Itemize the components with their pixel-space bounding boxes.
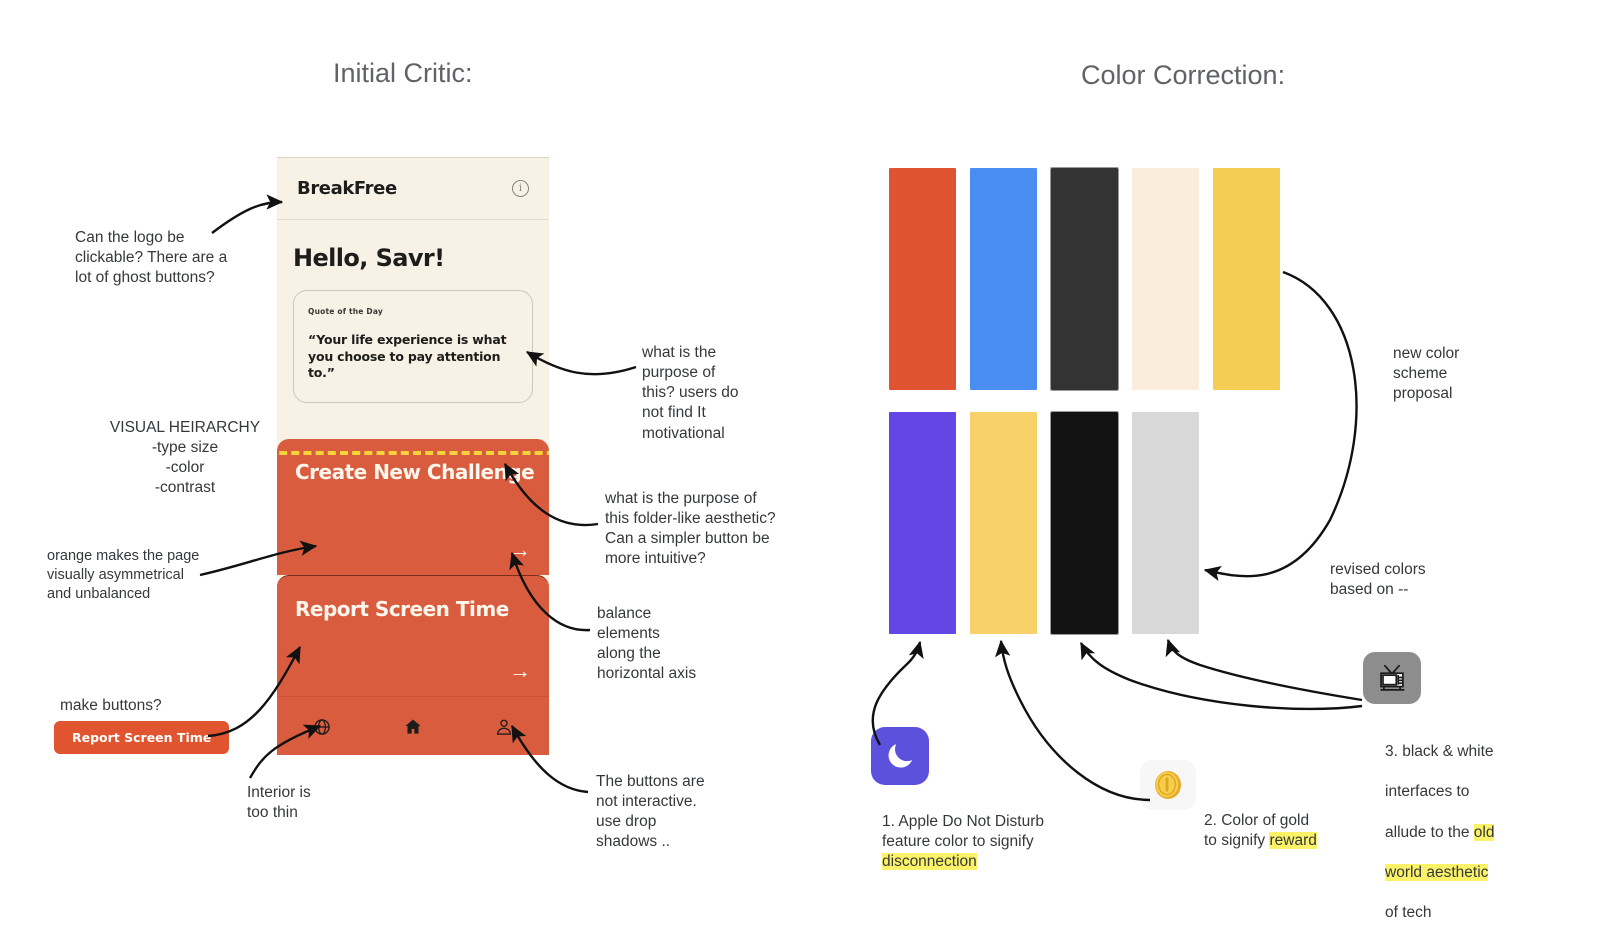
note-bw-line4: world aesthetic bbox=[1385, 863, 1565, 883]
note-gold-color: 2. Color of gold to signify reward bbox=[1204, 791, 1354, 851]
bottom-tab-bar bbox=[277, 696, 549, 755]
report-screen-time-button[interactable]: Report Screen Time bbox=[54, 721, 229, 754]
color-swatch-light-gray bbox=[1132, 412, 1199, 634]
canvas: Initial Critic: Color Correction: BreakF… bbox=[0, 0, 1614, 902]
create-new-challenge-card[interactable]: Create New Challenge → bbox=[277, 439, 549, 575]
color-swatch-gold bbox=[970, 412, 1037, 634]
television-icon bbox=[1363, 652, 1421, 704]
color-swatch-black bbox=[1051, 412, 1118, 634]
note-folder-aesthetic: what is the purpose of this folder-like … bbox=[605, 489, 805, 570]
right-section-title: Color Correction: bbox=[1081, 60, 1285, 91]
dashed-guide-line bbox=[277, 451, 549, 455]
color-swatch-cream bbox=[1132, 168, 1199, 390]
color-swatch-blue bbox=[970, 168, 1037, 390]
arrow-right-icon[interactable]: → bbox=[509, 539, 531, 561]
info-icon[interactable]: i bbox=[512, 180, 529, 197]
note-dnd-text: 1. Apple Do Not Disturb feature color to… bbox=[882, 813, 1044, 850]
color-swatch-purple bbox=[889, 412, 956, 634]
app-topbar: BreakFree i bbox=[277, 158, 549, 220]
note-visual-hierarchy: VISUAL HEIRARCHY -type size -color -cont… bbox=[105, 418, 265, 499]
note-balance-elements: balance elements along the horizontal ax… bbox=[597, 604, 717, 685]
action-cards: Create New Challenge → Report Screen Tim… bbox=[277, 439, 549, 755]
quote-of-the-day-card: Quote of the Day “Your life experience i… bbox=[293, 290, 533, 403]
note-bw-line5: of tech bbox=[1385, 903, 1565, 923]
note-revised-colors: revised colors based on -- bbox=[1330, 560, 1490, 600]
color-swatch-dark-gray bbox=[1051, 168, 1118, 390]
color-swatch-gold bbox=[1213, 168, 1280, 390]
quote-label: Quote of the Day bbox=[308, 307, 518, 316]
create-new-challenge-label: Create New Challenge bbox=[277, 439, 549, 484]
color-swatch-orange-red bbox=[889, 168, 956, 390]
note-orange-asymmetry: orange makes the page visually asymmetri… bbox=[47, 547, 247, 604]
note-bw-line2: interfaces to bbox=[1385, 782, 1565, 802]
note-interior-thin: Interior is too thin bbox=[247, 783, 387, 823]
coin-icon bbox=[1140, 760, 1196, 810]
note-dnd-color: 1. Apple Do Not Disturb feature color to… bbox=[882, 792, 1092, 873]
home-icon[interactable] bbox=[403, 717, 423, 737]
note-bw-line1: 3. black & white bbox=[1385, 742, 1565, 762]
globe-icon[interactable] bbox=[312, 717, 332, 737]
note-buttons-not-interactive: The buttons are not interactive. use dro… bbox=[596, 772, 746, 853]
greeting-heading: Hello, Savr! bbox=[293, 244, 533, 272]
note-bw-highlight-old: old bbox=[1474, 824, 1495, 841]
app-content: Hello, Savr! Quote of the Day “Your life… bbox=[277, 220, 549, 403]
note-quote-purpose: what is the purpose of this? users do no… bbox=[642, 343, 792, 444]
note-bw-highlight-world: world aesthetic bbox=[1385, 864, 1488, 881]
note-new-color-scheme: new color scheme proposal bbox=[1393, 344, 1533, 404]
moon-icon bbox=[871, 727, 929, 785]
note-make-buttons: make buttons? bbox=[60, 696, 162, 716]
profile-icon[interactable] bbox=[494, 717, 514, 737]
app-logo[interactable]: BreakFree bbox=[297, 178, 397, 199]
note-dnd-highlight: disconnection bbox=[882, 853, 977, 870]
report-screen-time-label: Report Screen Time bbox=[277, 576, 549, 621]
arrow-right-icon[interactable]: → bbox=[509, 660, 531, 682]
quote-text: “Your life experience is what you choose… bbox=[308, 332, 518, 382]
note-logo-clickable: Can the logo be clickable? There are a l… bbox=[75, 228, 255, 288]
note-gold-highlight: reward bbox=[1269, 832, 1316, 849]
note-bw-line3: allude to the old bbox=[1385, 823, 1565, 843]
report-screen-time-card[interactable]: Report Screen Time → bbox=[277, 575, 549, 696]
note-black-white: 3. black & white interfaces to allude to… bbox=[1385, 722, 1565, 944]
left-section-title: Initial Critic: bbox=[333, 58, 473, 89]
phone-mockup: BreakFree i Hello, Savr! Quote of the Da… bbox=[277, 157, 549, 755]
note-bw-line3-pre: allude to the bbox=[1385, 824, 1474, 841]
